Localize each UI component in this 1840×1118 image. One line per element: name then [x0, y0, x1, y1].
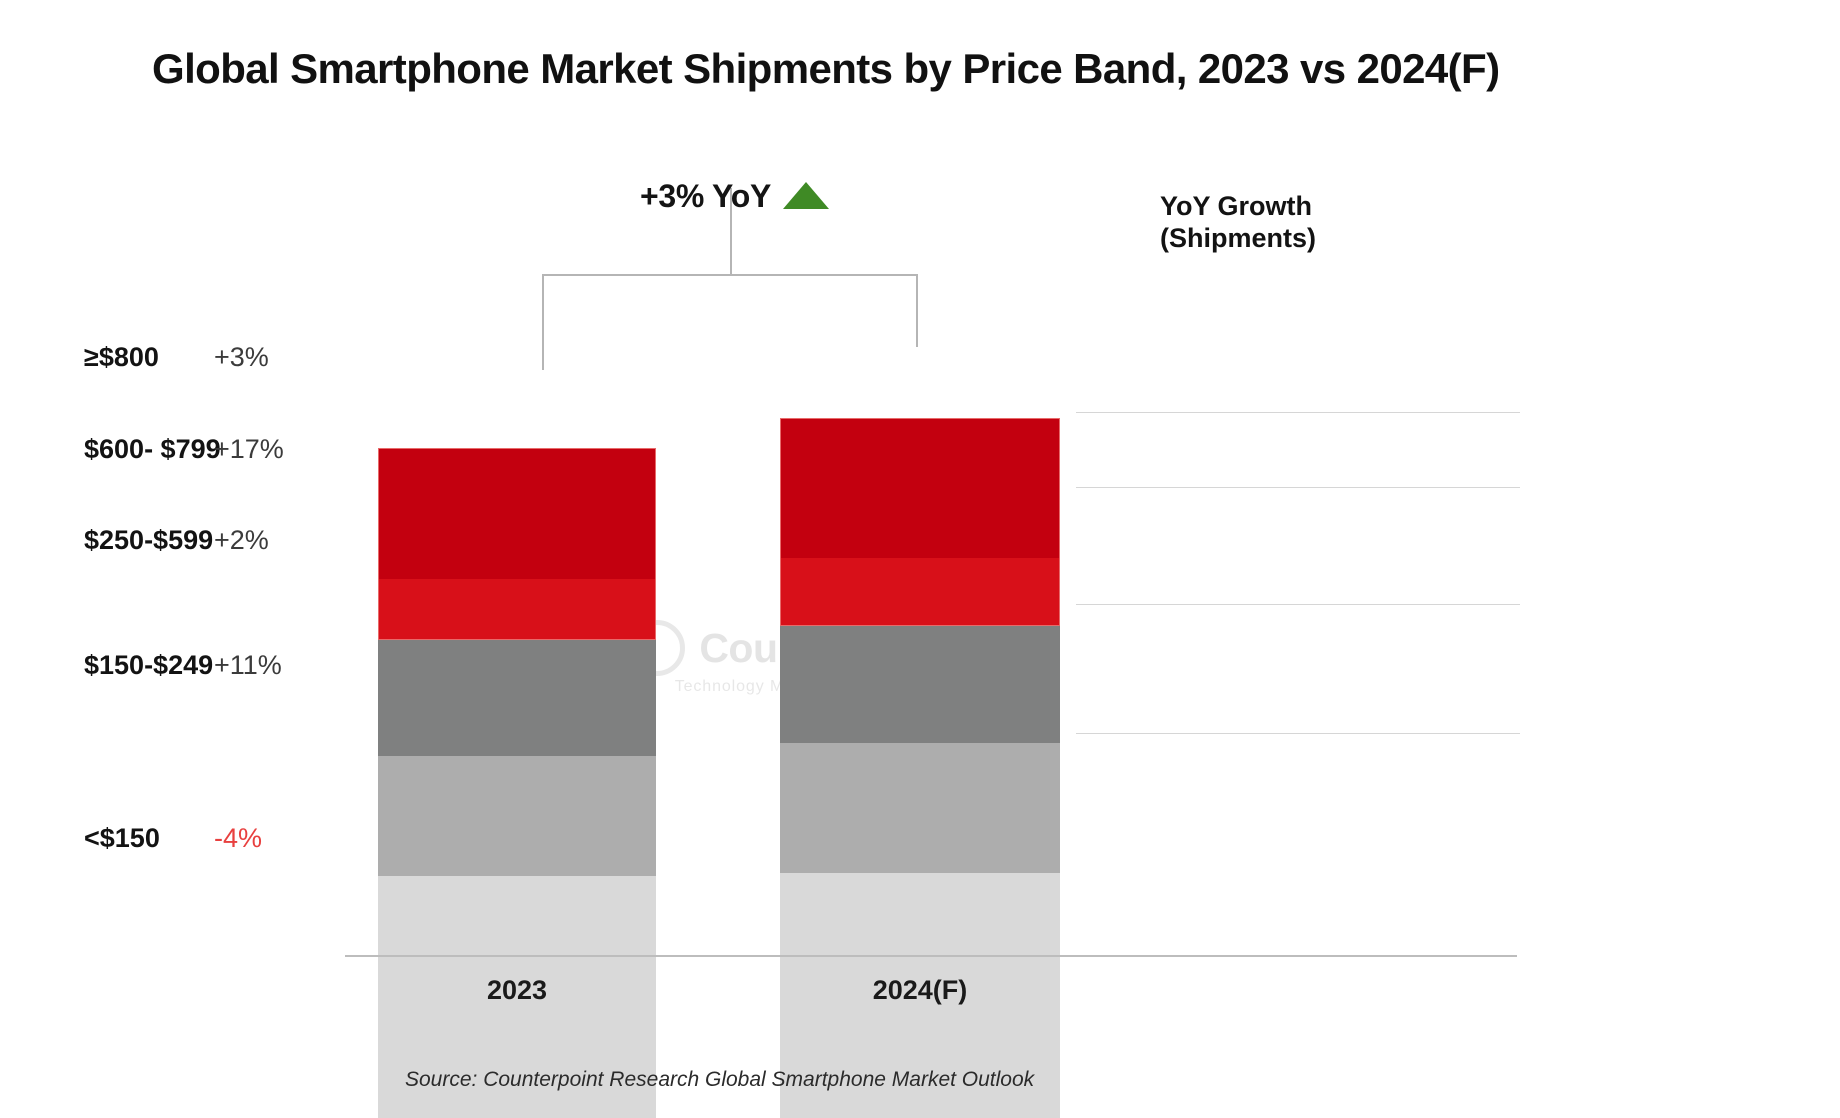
legend-row-250-599[interactable]: $250-$599 +2%	[0, 525, 440, 556]
legend-band-growth: +3%	[196, 342, 269, 373]
legend-band-label: $150-$249	[0, 650, 196, 681]
legend-band-growth: -4%	[196, 823, 262, 854]
plot-area	[0, 0, 1840, 1118]
bar-segment-2023-ge800[interactable]	[378, 448, 656, 579]
legend-header-line2: (Shipments)	[1160, 222, 1520, 254]
bar-2024f[interactable]	[780, 418, 1060, 1118]
legend-band-growth: +2%	[196, 525, 269, 556]
legend-band-label: $600- $799	[0, 434, 196, 465]
triangle-up-icon	[783, 182, 829, 209]
legend-divider	[1076, 604, 1520, 605]
total-yoy-callout: +3% YoY	[640, 178, 829, 215]
legend-band-label: ≥$800	[0, 342, 196, 373]
legend-band-label: $250-$599	[0, 525, 196, 556]
bracket-leg-left	[542, 274, 544, 370]
total-yoy-label: +3% YoY	[640, 178, 771, 215]
legend-row-ge800[interactable]: ≥$800 +3%	[0, 342, 440, 373]
bar-segment-2024-ge800[interactable]	[780, 418, 1060, 558]
legend-divider	[1076, 412, 1520, 413]
bar-segment-2023-150-249[interactable]	[378, 756, 656, 876]
legend-header-block: YoY Growth (Shipments)	[1080, 190, 1520, 255]
x-tick-label-2024f: 2024(F)	[780, 975, 1060, 1006]
yoy-bracket-connector	[520, 230, 940, 350]
legend-divider	[1076, 733, 1520, 734]
x-tick-label-2023: 2023	[378, 975, 656, 1006]
bar-segment-2024-150-249[interactable]	[780, 743, 1060, 873]
bracket-crossbar	[542, 274, 918, 276]
x-axis-line	[345, 955, 1517, 957]
legend-row-lt150[interactable]: <$150 -4%	[0, 823, 440, 854]
bar-segment-2023-600-799[interactable]	[378, 579, 656, 640]
chart-canvas: Global Smartphone Market Shipments by Pr…	[0, 0, 1840, 1118]
source-note: Source: Counterpoint Research Global Sma…	[405, 1068, 1034, 1092]
legend-row-600-799[interactable]: $600- $799 +17%	[0, 434, 440, 465]
legend-band-growth: +17%	[196, 434, 284, 465]
legend-divider	[1076, 487, 1520, 488]
bar-segment-2024-600-799[interactable]	[780, 558, 1060, 626]
legend-band-label: <$150	[0, 823, 196, 854]
legend-row-150-249[interactable]: $150-$249 +11%	[0, 650, 440, 681]
bracket-leg-right	[916, 274, 918, 347]
legend-header-line1: YoY Growth	[1160, 190, 1520, 222]
bar-segment-2024-250-599[interactable]	[780, 626, 1060, 743]
legend-band-growth: +11%	[196, 650, 282, 681]
